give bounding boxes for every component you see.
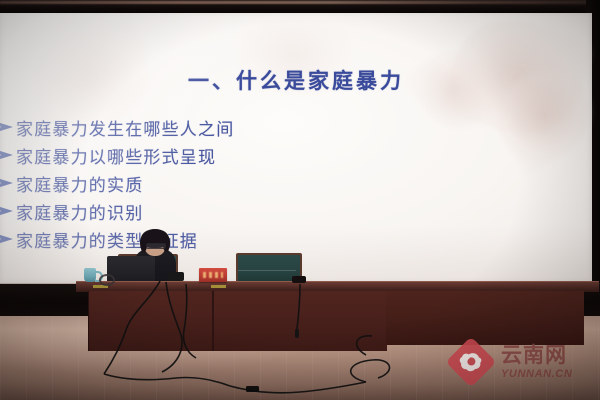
- nameplate-text: [203, 272, 223, 278]
- slide-bullet-item: ➤ 家庭暴力以哪些形式呈现: [0, 142, 414, 169]
- microphone-base: [168, 272, 184, 281]
- logo-cloud-swirl: [458, 350, 484, 374]
- projection-screen: 一、什么是家庭暴力 ➤ 家庭暴力发生在哪些人之间 ➤ 家庭暴力以哪些形式呈现 ➤…: [0, 13, 592, 285]
- desk-panel-seam: [212, 291, 214, 351]
- microphone-base: [292, 276, 306, 283]
- slide-bullet-item: ➤ 家庭暴力发生在哪些人之间: [0, 114, 414, 141]
- slide-bullet-list: ➤ 家庭暴力发生在哪些人之间 ➤ 家庭暴力以哪些形式呈现 ➤ 家庭暴力的实质 ➤…: [0, 114, 414, 254]
- arrow-bullet-icon: ➤: [0, 232, 27, 248]
- ceiling-trim-highlight: [0, 1, 600, 4]
- slide-bullet-item: ➤ 家庭暴力的识别: [0, 198, 414, 225]
- slide-bullet-item: ➤ 家庭暴力的实质: [0, 170, 414, 197]
- desk-front-panel-left: [88, 291, 387, 351]
- slide-bullet-item: ➤ 家庭暴力的类型及证据: [0, 226, 414, 253]
- watermark-brand-cn: 云南网: [501, 345, 572, 366]
- arrow-bullet-icon: ➤: [0, 176, 27, 192]
- yunnan-cloud-diamond-icon: [448, 339, 494, 385]
- desk-plaque: [211, 285, 226, 288]
- slide-title: 一、什么是家庭暴力: [0, 65, 592, 95]
- coiled-cable: [99, 274, 115, 286]
- arrow-bullet-icon: ➤: [0, 204, 27, 220]
- arrow-bullet-icon: ➤: [0, 120, 27, 136]
- watermark-brand-en: YUNNAN.CN: [501, 369, 572, 380]
- slide-bullet-text: 家庭暴力的实质: [16, 171, 143, 196]
- chair-seam: [238, 270, 296, 271]
- slide-bullet-text: 家庭暴力以哪些形式呈现: [16, 143, 216, 168]
- lecture-hall-photo: 一、什么是家庭暴力 ➤ 家庭暴力发生在哪些人之间 ➤ 家庭暴力以哪些形式呈现 ➤…: [0, 0, 600, 400]
- slide-bullet-text: 家庭暴力的类型及证据: [16, 227, 198, 252]
- glasses-icon: [146, 243, 166, 249]
- slide-bullet-text: 家庭暴力发生在哪些人之间: [16, 115, 234, 140]
- watermark: 云南网 YUNNAN.CN: [448, 336, 594, 388]
- watermark-text: 云南网 YUNNAN.CN: [501, 345, 572, 380]
- arrow-bullet-icon: ➤: [0, 148, 27, 164]
- slide-bullet-text: 家庭暴力的识别: [16, 199, 143, 224]
